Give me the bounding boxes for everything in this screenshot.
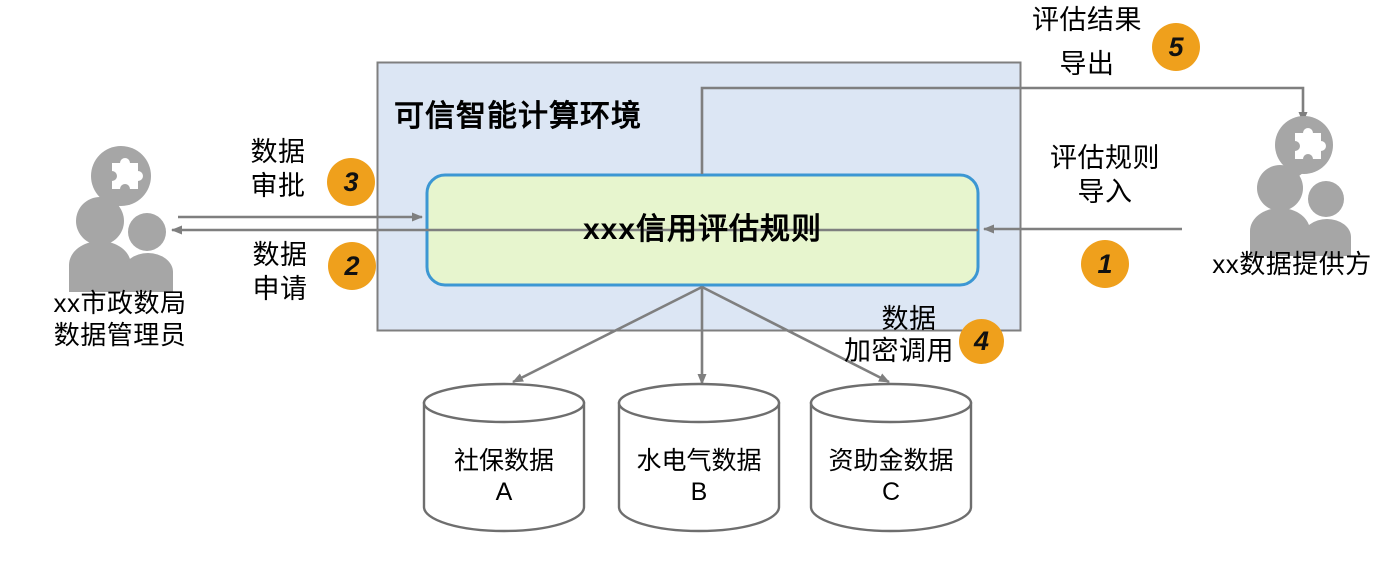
flow-2-step-badge: 2	[328, 242, 376, 290]
database-c-label-line1: 资助金数据	[801, 447, 981, 477]
flow-5-label-line2: 导出	[1012, 49, 1162, 80]
diagram-canvas: 可信智能计算环境 xxx信用评估规则 xx市政数局 数据管理员 xx数据提供方 …	[0, 0, 1398, 565]
right-actor-label: xx数据提供方	[1186, 249, 1398, 279]
flow-4-label-line2: 加密调用	[825, 336, 973, 367]
flow-1-step-badge: 1	[1081, 240, 1129, 288]
flow-4-step-badge: 4	[959, 319, 1004, 364]
database-c-label-line2: C	[801, 478, 981, 508]
database-b-label-line1: 水电气数据	[609, 447, 789, 477]
left-actor-label-line2: 数据管理员	[0, 320, 240, 350]
flow-2-label-line2: 申请	[230, 274, 330, 305]
left-actor-users-with-puzzle-speech-bubble-icon	[69, 146, 173, 292]
left-actor-label-line1: xx市政数局	[0, 288, 240, 318]
flow-5-label-line1: 评估结果	[1012, 5, 1162, 36]
flow-1-label-line2: 导入	[1030, 177, 1180, 208]
database-a-label-line1: 社保数据	[414, 447, 594, 477]
right-actor-users-with-puzzle-speech-bubble-icon	[1250, 116, 1351, 256]
trusted-env-title: 可信智能计算环境	[394, 100, 642, 135]
flow-3-label-line1: 数据	[228, 137, 328, 168]
database-a-label-line2: A	[414, 478, 594, 508]
database-b-label-line2: B	[609, 478, 789, 508]
flow-3-label-line2: 审批	[228, 171, 328, 202]
flow-1-label-line1: 评估规则	[1030, 143, 1180, 174]
core-rule-box-title: xxx信用评估规则	[427, 213, 978, 248]
flow-3-step-badge: 3	[327, 158, 375, 206]
flow-5-step-badge: 5	[1152, 23, 1200, 71]
flow-2-label-line1: 数据	[230, 240, 330, 271]
